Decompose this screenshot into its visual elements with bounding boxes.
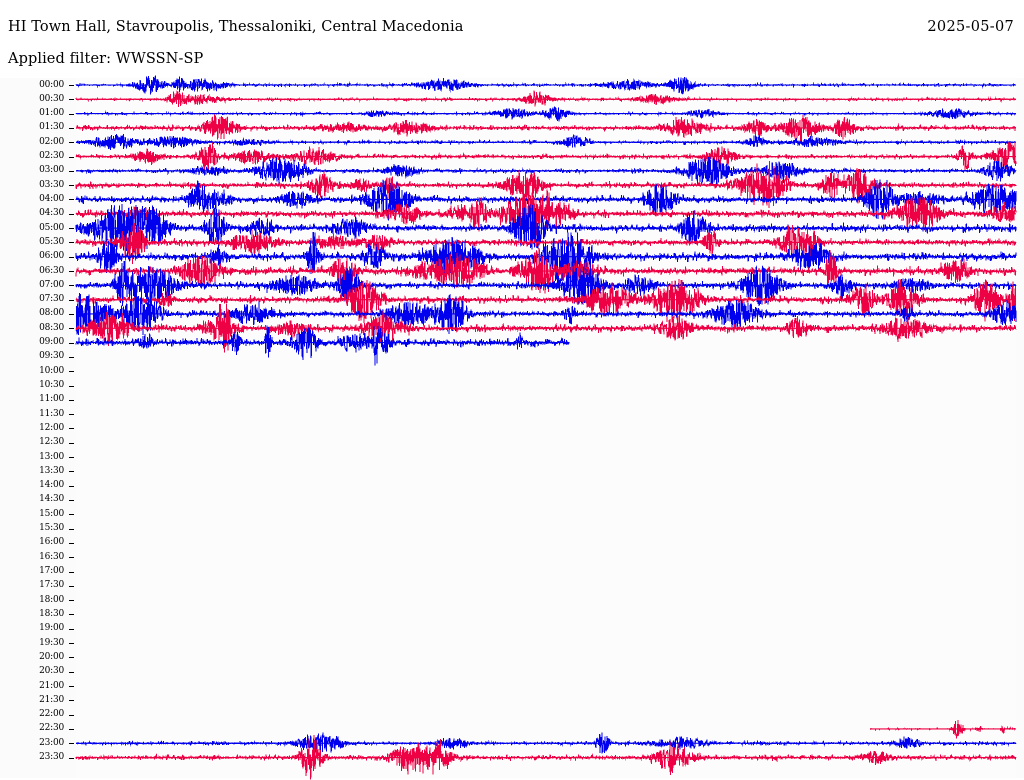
time-label-1030: 10:30 xyxy=(0,381,64,390)
time-label-0300: 03:00 xyxy=(0,166,64,175)
time-tick xyxy=(69,614,74,615)
time-label-2300: 23:00 xyxy=(0,739,64,748)
time-tick xyxy=(69,457,74,458)
time-label-2000: 20:00 xyxy=(0,653,64,662)
time-tick xyxy=(69,171,74,172)
time-label-0430: 04:30 xyxy=(0,209,64,218)
time-tick xyxy=(69,428,74,429)
time-tick xyxy=(69,314,74,315)
time-tick xyxy=(69,600,74,601)
time-label-1600: 16:00 xyxy=(0,538,64,547)
plot-background xyxy=(76,78,1016,778)
time-tick xyxy=(69,471,74,472)
time-tick xyxy=(69,657,74,658)
time-label-1400: 14:00 xyxy=(0,481,64,490)
time-label-1730: 17:30 xyxy=(0,581,64,590)
time-label-2130: 21:30 xyxy=(0,696,64,705)
time-tick xyxy=(69,486,74,487)
time-label-1830: 18:30 xyxy=(0,610,64,619)
time-tick xyxy=(69,271,74,272)
time-label-0600: 06:00 xyxy=(0,252,64,261)
time-tick xyxy=(69,386,74,387)
time-tick xyxy=(69,128,74,129)
time-tick xyxy=(69,443,74,444)
time-label-1930: 19:30 xyxy=(0,639,64,648)
time-label-1800: 18:00 xyxy=(0,596,64,605)
time-label-2330: 23:30 xyxy=(0,753,64,762)
time-tick xyxy=(69,242,74,243)
time-label-0100: 01:00 xyxy=(0,109,64,118)
time-tick xyxy=(69,700,74,701)
time-tick xyxy=(69,557,74,558)
time-label-2100: 21:00 xyxy=(0,682,64,691)
time-label-1330: 13:30 xyxy=(0,467,64,476)
time-tick xyxy=(69,500,74,501)
time-tick xyxy=(69,729,74,730)
time-tick xyxy=(69,543,74,544)
time-tick xyxy=(69,672,74,673)
time-label-0630: 06:30 xyxy=(0,267,64,276)
time-tick xyxy=(69,85,74,86)
time-tick xyxy=(69,586,74,587)
time-tick xyxy=(69,157,74,158)
page-title: HI Town Hall, Stavroupolis, Thessaloniki… xyxy=(8,20,463,35)
time-label-2200: 22:00 xyxy=(0,710,64,719)
helicorder-plot: 00:0000:3001:0001:3002:0002:3003:0003:30… xyxy=(0,78,1024,778)
time-tick xyxy=(69,686,74,687)
time-tick xyxy=(69,214,74,215)
time-label-0700: 07:00 xyxy=(0,281,64,290)
time-tick xyxy=(69,285,74,286)
time-label-1100: 11:00 xyxy=(0,395,64,404)
time-label-0000: 00:00 xyxy=(0,81,64,90)
time-tick xyxy=(69,514,74,515)
time-label-0130: 01:30 xyxy=(0,123,64,132)
time-tick xyxy=(69,572,74,573)
time-tick xyxy=(69,343,74,344)
time-label-1130: 11:30 xyxy=(0,410,64,419)
time-label-0900: 09:00 xyxy=(0,338,64,347)
time-label-0230: 02:30 xyxy=(0,152,64,161)
time-tick xyxy=(69,758,74,759)
time-label-1530: 15:30 xyxy=(0,524,64,533)
time-tick xyxy=(69,300,74,301)
time-tick xyxy=(69,114,74,115)
time-label-1200: 12:00 xyxy=(0,424,64,433)
time-tick xyxy=(69,371,74,372)
time-tick xyxy=(69,99,74,100)
time-label-1700: 17:00 xyxy=(0,567,64,576)
time-tick xyxy=(69,529,74,530)
time-tick xyxy=(69,199,74,200)
time-label-1000: 10:00 xyxy=(0,367,64,376)
time-label-1300: 13:00 xyxy=(0,453,64,462)
time-tick xyxy=(69,643,74,644)
time-label-1430: 14:30 xyxy=(0,495,64,504)
time-label-1500: 15:00 xyxy=(0,510,64,519)
time-tick xyxy=(69,629,74,630)
time-tick xyxy=(69,228,74,229)
applied-filter-label: Applied filter: WWSSN-SP xyxy=(8,52,203,67)
time-tick xyxy=(69,142,74,143)
time-label-0030: 00:30 xyxy=(0,95,64,104)
time-tick xyxy=(69,715,74,716)
time-label-0400: 04:00 xyxy=(0,195,64,204)
time-tick xyxy=(69,743,74,744)
record-date: 2025-05-07 xyxy=(927,20,1014,35)
time-label-0930: 09:30 xyxy=(0,352,64,361)
time-label-1230: 12:30 xyxy=(0,438,64,447)
time-tick xyxy=(69,257,74,258)
time-tick xyxy=(69,414,74,415)
time-label-2030: 20:30 xyxy=(0,667,64,676)
time-label-0530: 05:30 xyxy=(0,238,64,247)
time-label-0500: 05:00 xyxy=(0,224,64,233)
time-tick xyxy=(69,185,74,186)
time-tick xyxy=(69,400,74,401)
time-label-0330: 03:30 xyxy=(0,181,64,190)
time-label-0800: 08:00 xyxy=(0,309,64,318)
time-label-0200: 02:00 xyxy=(0,138,64,147)
time-tick xyxy=(69,357,74,358)
time-label-0730: 07:30 xyxy=(0,295,64,304)
time-label-1630: 16:30 xyxy=(0,553,64,562)
time-tick xyxy=(69,328,74,329)
time-label-1900: 19:00 xyxy=(0,624,64,633)
time-label-2230: 22:30 xyxy=(0,724,64,733)
time-label-0830: 08:30 xyxy=(0,324,64,333)
helicorder-page: HI Town Hall, Stavroupolis, Thessaloniki… xyxy=(0,0,1024,780)
